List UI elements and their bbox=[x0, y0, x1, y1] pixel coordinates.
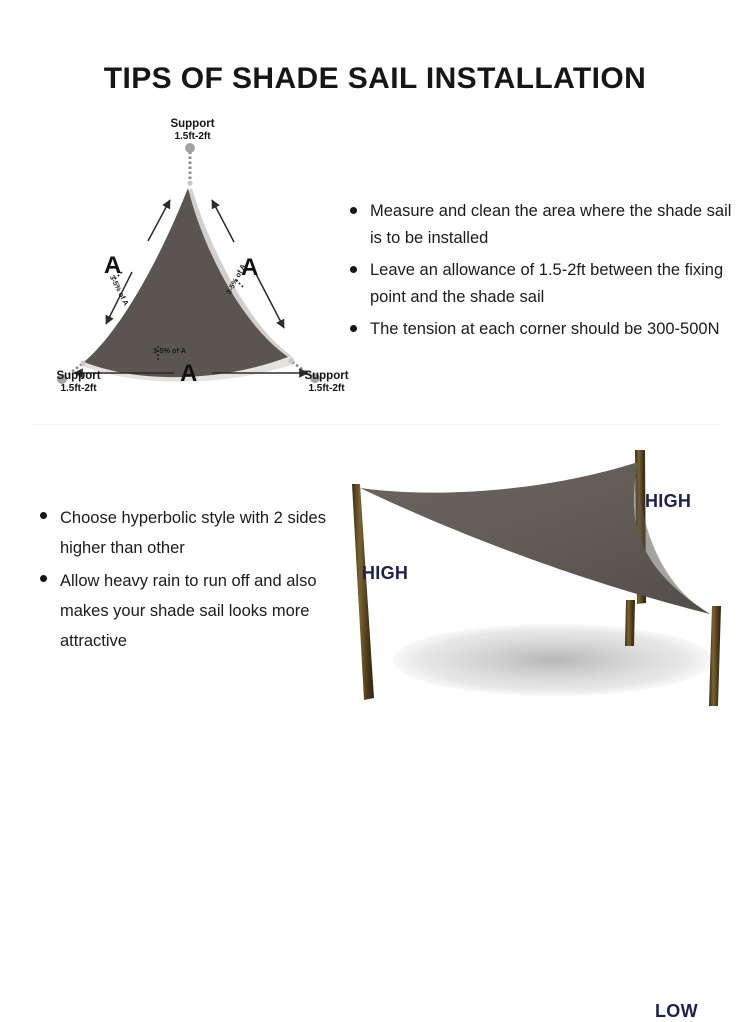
support-label-top-title: Support bbox=[170, 118, 214, 130]
corner-label-low: LOW bbox=[655, 1001, 698, 1022]
support-label-bottom-left-allowance: 1.5ft-2ft bbox=[26, 383, 131, 395]
list-item: Allow heavy rain to run off and also mak… bbox=[38, 566, 344, 656]
dim-arrow-left-upper bbox=[148, 200, 170, 241]
dim-arrow-right-lower bbox=[256, 274, 284, 328]
corner-label-high-left: HIGH bbox=[362, 563, 408, 584]
list-item: The tension at each corner should be 300… bbox=[348, 316, 738, 343]
sail-illustration: HIGH HIGH LOW bbox=[338, 428, 738, 723]
post-front-right bbox=[709, 606, 721, 706]
corner-label-high-right: HIGH bbox=[645, 491, 691, 512]
section-divider bbox=[30, 424, 720, 425]
triangle-diagram: Support 1.5ft-2ft Support 1.5ft-2ft Supp… bbox=[22, 112, 362, 412]
bottom-left-corner-fixing bbox=[80, 360, 85, 365]
support-label-bottom-right-title: Support bbox=[304, 370, 348, 382]
tips-primary-list: Measure and clean the area where the sha… bbox=[348, 198, 738, 348]
curve-note-bottom: 3-5% of A bbox=[153, 347, 186, 355]
sail-fabric bbox=[360, 462, 710, 614]
post-back-left bbox=[352, 484, 374, 700]
dim-arrow-right-upper bbox=[212, 200, 234, 242]
support-label-bottom-left: Support 1.5ft-2ft bbox=[26, 370, 131, 395]
page-title: TIPS OF SHADE SAIL INSTALLATION bbox=[0, 62, 750, 96]
list-item: Leave an allowance of 1.5-2ft between th… bbox=[348, 257, 738, 311]
top-support-dot bbox=[185, 143, 195, 153]
ground-shadow bbox=[393, 624, 713, 696]
side-label-bottom: A bbox=[180, 360, 197, 388]
bottom-right-corner-fixing bbox=[288, 358, 293, 363]
support-label-top-allowance: 1.5ft-2ft bbox=[135, 131, 250, 143]
support-label-bottom-right-allowance: 1.5ft-2ft bbox=[274, 383, 379, 395]
support-label-bottom-right: Support 1.5ft-2ft bbox=[274, 370, 379, 395]
post-middle-short bbox=[625, 600, 635, 646]
infographic-page: TIPS OF SHADE SAIL INSTALLATION bbox=[0, 0, 750, 750]
tips-secondary-list: Choose hyperbolic style with 2 sides hig… bbox=[38, 503, 344, 659]
top-corner-fixing bbox=[187, 180, 192, 185]
support-label-top: Support 1.5ft-2ft bbox=[135, 118, 250, 143]
list-item: Measure and clean the area where the sha… bbox=[348, 198, 738, 252]
support-label-bottom-left-title: Support bbox=[56, 370, 100, 382]
list-item: Choose hyperbolic style with 2 sides hig… bbox=[38, 503, 344, 563]
